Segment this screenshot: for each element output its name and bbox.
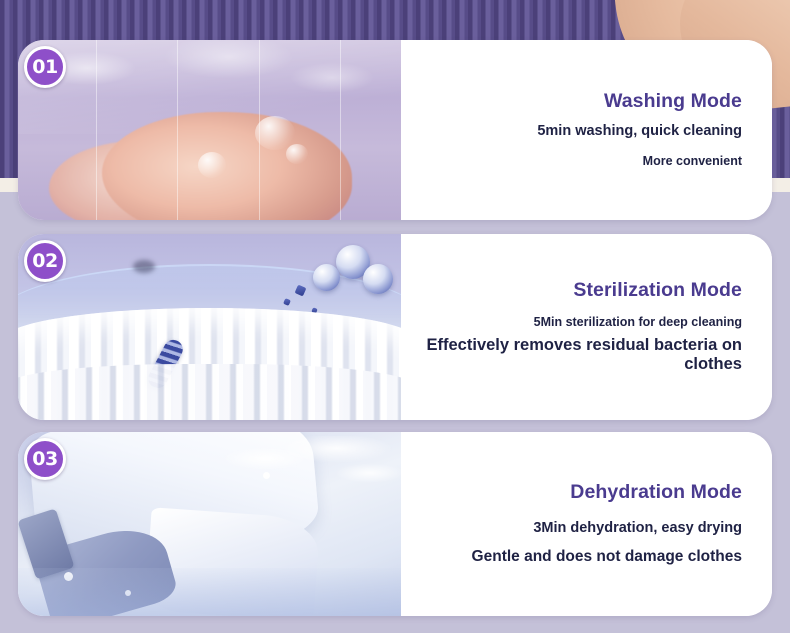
- mode-detail-primary: 5min washing, quick cleaning: [415, 123, 742, 141]
- water-bubble-icon: [255, 116, 295, 150]
- glass-pane-line: [340, 40, 341, 220]
- garment-in-water-photo: [18, 40, 401, 220]
- glass-pane-line: [177, 40, 178, 220]
- dust-speck-icon: [133, 260, 155, 273]
- bacteria-cell-icon: [313, 264, 340, 291]
- glass-pane-line: [259, 40, 260, 220]
- white-shirt-water-splash-photo: [18, 432, 401, 616]
- step-badge-02: 02: [24, 240, 66, 282]
- fabric-fiber-loops-foreground: [18, 364, 401, 420]
- mode-detail-primary: 3Min dehydration, easy drying: [415, 520, 742, 538]
- card-text-washing: Washing Mode 5min washing, quick cleanin…: [401, 40, 772, 220]
- card-text-dehydration: Dehydration Mode 3Min dehydration, easy …: [401, 432, 772, 616]
- water-splash-shape: [206, 436, 401, 539]
- water-base-gradient: [18, 568, 401, 616]
- mode-detail-secondary: Effectively removes residual bacteria on…: [415, 336, 742, 376]
- mode-title: Washing Mode: [415, 90, 742, 112]
- card-image-washing: 01: [18, 40, 401, 220]
- water-bubble-icon: [198, 152, 226, 178]
- mode-detail-secondary: More convenient: [415, 154, 742, 169]
- mode-card-sterilization[interactable]: 02 Sterilization Mode 5Min sterilization…: [18, 234, 772, 420]
- glass-pane-line: [96, 40, 97, 220]
- step-badge-03: 03: [24, 438, 66, 480]
- mode-card-washing[interactable]: 01 Washing Mode 5min washing, quick clea…: [18, 40, 772, 220]
- step-badge-01: 01: [24, 46, 66, 88]
- card-image-sterilization: 02: [18, 234, 401, 420]
- card-image-dehydration: 03: [18, 432, 401, 616]
- mode-detail-primary: 5Min sterilization for deep cleaning: [415, 315, 742, 330]
- mode-title: Dehydration Mode: [415, 481, 742, 503]
- mode-detail-secondary: Gentle and does not damage clothes: [415, 548, 742, 567]
- mode-card-dehydration[interactable]: 03 Dehydration Mode 3Min dehydration, ea…: [18, 432, 772, 616]
- bacteria-cell-icon: [363, 264, 393, 294]
- fabric-fibers-bacteria-illustration: [18, 234, 401, 420]
- mode-title: Sterilization Mode: [415, 279, 742, 301]
- card-text-sterilization: Sterilization Mode 5Min sterilization fo…: [401, 234, 772, 420]
